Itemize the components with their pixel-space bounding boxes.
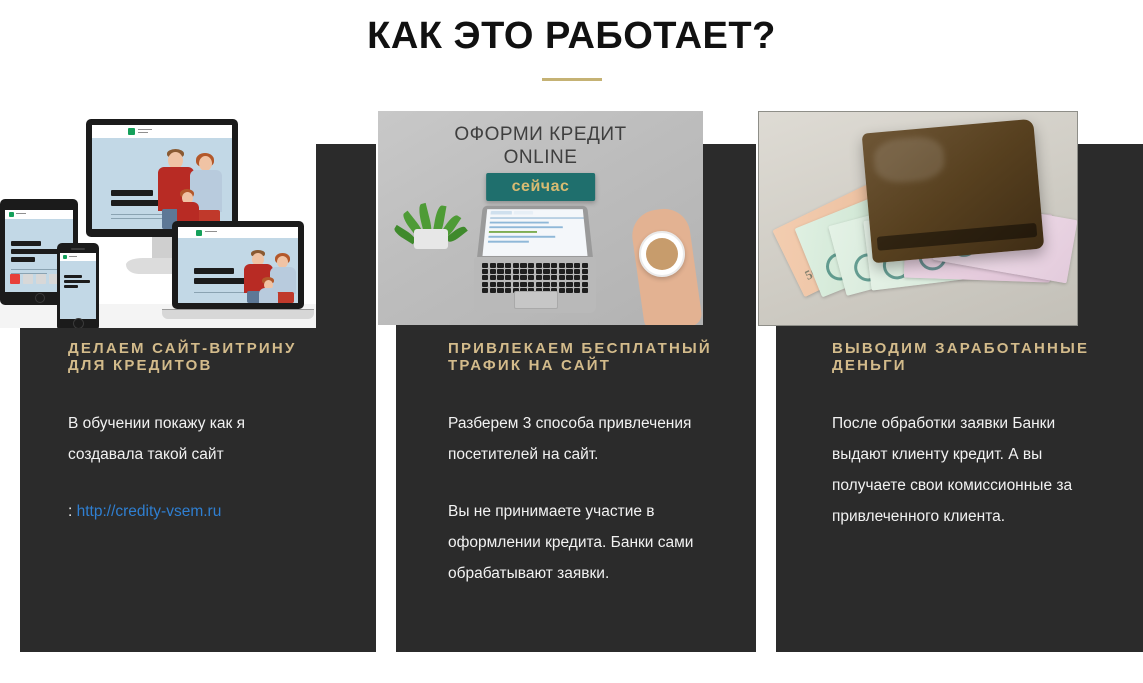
laptop [474, 203, 596, 313]
screen-hero [92, 138, 232, 229]
key [582, 288, 588, 293]
key [551, 263, 557, 268]
key [536, 269, 542, 274]
browser-content-line-4 [488, 236, 555, 237]
browser-address-bar [490, 217, 584, 218]
browser-tab-1 [491, 211, 512, 215]
laptop-headline-line1 [194, 268, 234, 274]
title-divider [542, 78, 602, 81]
key [513, 282, 519, 287]
tablet-brand-logo-text [16, 213, 26, 214]
wallet-fold [877, 223, 1038, 251]
page-title: КАК ЭТО РАБОТАЕТ? [0, 0, 1143, 58]
key [528, 269, 534, 274]
key [582, 282, 588, 287]
family-photo [152, 147, 230, 229]
key [582, 275, 588, 280]
tablet-home-button[interactable] [35, 293, 45, 303]
laptop-brand-logo-icon [196, 230, 202, 236]
card-withdraw-money: 5000 1000 1000 1000 500 [776, 100, 1143, 660]
key [490, 269, 496, 274]
key [505, 275, 511, 280]
how-it-works-cards: ДЕЛАЕМ САЙТ-ВИТРИНУ ДЛЯ КРЕДИТОВ В обуче… [0, 100, 1143, 660]
card-title: ДЕЛАЕМ САЙТ-ВИТРИНУ ДЛЯ КРЕДИТОВ [68, 340, 308, 374]
wallet-illustration: 5000 1000 1000 1000 500 [759, 112, 1077, 325]
card-title: ПРИВЛЕКАЕМ БЕСПЛАТНЫЙ ТРАФИК НА САЙТ [448, 340, 718, 374]
phone-brand-logo-text [69, 256, 77, 257]
card-paragraph: В обучении покажу как я создавала такой … [68, 408, 308, 470]
key [551, 269, 557, 274]
key [482, 263, 488, 268]
laptop-browser-screen [482, 209, 587, 256]
key [566, 288, 572, 293]
card-body: ВЫВОДИМ ЗАРАБОТАННЫЕ ДЕНЬГИ После обрабо… [832, 340, 1107, 532]
browser-content-line-3 [489, 231, 537, 232]
key [559, 288, 565, 293]
desk-cta-label: сейчас [512, 178, 570, 195]
monitor-screen [92, 125, 232, 229]
key [482, 288, 488, 293]
key [482, 269, 488, 274]
desk-flatlay-illustration: ОФОРМИ КРЕДИТ ONLINE сейчас [378, 111, 703, 325]
key [490, 275, 496, 280]
laptop-brand-logo-text [205, 231, 217, 232]
key [528, 275, 534, 280]
card-image-responsive-device-mockups [0, 111, 316, 328]
key [582, 263, 588, 268]
key [505, 269, 511, 274]
phone-brand-logo-icon [63, 255, 67, 259]
key [497, 282, 503, 287]
hero-headline-line1 [111, 190, 153, 196]
laptop-family-photo [240, 249, 298, 303]
key [574, 288, 580, 293]
key [543, 269, 549, 274]
site-link[interactable]: http://credity-vsem.ru [77, 503, 222, 520]
laptop-hero [178, 238, 298, 303]
tablet-subline-1 [11, 269, 61, 270]
key [505, 263, 511, 268]
card-free-traffic: ОФОРМИ КРЕДИТ ONLINE сейчас [396, 100, 756, 660]
browser-content-line-1 [490, 222, 549, 223]
key [490, 282, 496, 287]
card-paragraph: После обработки заявки Банки выдают клие… [832, 408, 1107, 532]
key [528, 263, 534, 268]
key [482, 282, 488, 287]
key [528, 282, 534, 287]
key [582, 269, 588, 274]
phone-hero [60, 261, 96, 319]
key [566, 269, 572, 274]
card-body: ДЕЛАЕМ САЙТ-ВИТРИНУ ДЛЯ КРЕДИТОВ В обуче… [68, 340, 308, 527]
laptop-screen [178, 227, 298, 303]
laptop-keys[interactable] [482, 263, 588, 289]
link-prefix: : [68, 503, 72, 520]
key [551, 282, 557, 287]
key [520, 269, 526, 274]
card-make-site: ДЕЛАЕМ САЙТ-ВИТРИНУ ДЛЯ КРЕДИТОВ В обуче… [0, 100, 376, 660]
desk-cta-button[interactable]: сейчас [486, 173, 596, 201]
key [513, 275, 519, 280]
brand-logo-subtext [138, 132, 148, 133]
card-paragraph: Разберем 3 способа привлечения посетител… [448, 408, 718, 470]
key [559, 269, 565, 274]
key [543, 275, 549, 280]
key [520, 263, 526, 268]
key [543, 263, 549, 268]
bank-logo-3 [36, 274, 46, 284]
card-paragraph: Вы не принимаете участие в оформлении кр… [448, 496, 718, 589]
key [566, 275, 572, 280]
phone-headline-line1 [64, 275, 82, 278]
browser-tab-2 [514, 211, 533, 215]
coffee-crema [646, 238, 678, 270]
key [559, 282, 565, 287]
section-header: КАК ЭТО РАБОТАЕТ? [0, 0, 1143, 81]
wallet-highlight [872, 135, 946, 185]
laptop-girl-top [259, 288, 278, 303]
key [513, 269, 519, 274]
brand-logo-icon [128, 128, 135, 135]
browser-content-line-2 [489, 226, 563, 227]
laptop-trackpad[interactable] [514, 291, 558, 309]
card-link-line: : http://credity-vsem.ru [68, 496, 308, 527]
key [497, 275, 503, 280]
key [536, 282, 542, 287]
coffee-cup [639, 231, 685, 277]
key [520, 282, 526, 287]
key [574, 282, 580, 287]
brand-logo-text [138, 129, 152, 130]
tablet-headline-line2 [11, 249, 59, 254]
key [505, 282, 511, 287]
key [505, 288, 511, 293]
key [574, 263, 580, 268]
key [497, 288, 503, 293]
desk-headline-line1: ОФОРМИ КРЕДИТ [378, 123, 703, 146]
bank-logo-1 [10, 274, 20, 284]
key [536, 263, 542, 268]
key [566, 282, 572, 287]
phone-screen [60, 253, 96, 319]
key [490, 263, 496, 268]
key [536, 275, 542, 280]
card-body: ПРИВЛЕКАЕМ БЕСПЛАТНЫЙ ТРАФИК НА САЙТ Раз… [448, 340, 718, 589]
key [482, 275, 488, 280]
browser-content-line-5 [488, 241, 529, 242]
card-title: ВЫВОДИМ ЗАРАБОТАННЫЕ ДЕНЬГИ [832, 340, 1107, 374]
phone-headline-line2 [64, 280, 90, 283]
bank-logo-2 [23, 274, 33, 284]
key [566, 263, 572, 268]
plant-pot [414, 229, 448, 249]
key [559, 263, 565, 268]
laptop-keyboard-deck [474, 257, 596, 313]
phone-speaker [71, 248, 85, 250]
tablet-brand-logo-icon [9, 212, 14, 217]
key [543, 282, 549, 287]
screen-topbar [92, 125, 232, 138]
desk-headline-line2: ONLINE [378, 146, 703, 169]
key [574, 275, 580, 280]
tablet-topbar [5, 210, 73, 219]
phone-home-button[interactable] [73, 318, 84, 328]
device-mockup-illustration [0, 111, 316, 328]
key [497, 269, 503, 274]
key [497, 263, 503, 268]
key [559, 275, 565, 280]
laptop-topbar [178, 227, 298, 238]
tablet-headline-line3 [11, 257, 35, 262]
card-image-wallet-with-rubles: 5000 1000 1000 1000 500 [758, 111, 1078, 326]
card-image-desk-flatlay-laptop: ОФОРМИ КРЕДИТ ONLINE сейчас [378, 111, 703, 325]
phone-mockup [57, 243, 99, 328]
monitor-mockup [86, 119, 238, 237]
desk-headline: ОФОРМИ КРЕДИТ ONLINE [378, 123, 703, 169]
phone-headline-line3 [64, 285, 78, 288]
key [574, 269, 580, 274]
tablet-headline-line1 [11, 241, 41, 246]
key [551, 275, 557, 280]
key [513, 263, 519, 268]
phone-topbar [60, 253, 96, 261]
key [490, 288, 496, 293]
laptop-base [162, 309, 314, 319]
woman-head [199, 156, 212, 171]
key [520, 275, 526, 280]
laptop-mockup [172, 221, 304, 309]
laptop-lid [477, 206, 593, 259]
leather-wallet [862, 119, 1045, 263]
